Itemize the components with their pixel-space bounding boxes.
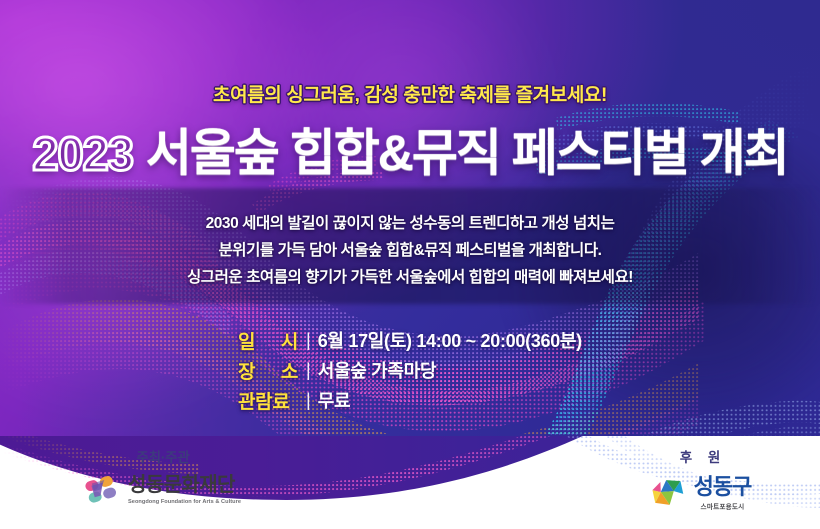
event-details: 일 시 | 6월 17일(토) 14:00 ~ 20:00(360분) 장 소 …	[238, 325, 582, 415]
detail-label-place: 장 소	[238, 357, 306, 384]
detail-value-fee: 무료	[318, 387, 351, 413]
detail-value-place: 서울숲 가족마당	[318, 357, 437, 383]
description-line-1: 2030 세대의 발길이 끊이지 않는 성수동의 트렌디하고 개성 넘치는	[0, 210, 820, 237]
support-logo-text: 성동구 스마트포용도시	[694, 475, 752, 511]
title-main: 서울숲 힙합&뮤직 페스티벌 개최	[146, 113, 788, 185]
poster-subtitle: 초여름의 싱그러움, 감성 충만한 축제를 즐겨보세요!	[0, 80, 820, 107]
seongdong-foundation-logo-icon	[85, 475, 119, 505]
title-year: 2023	[32, 126, 133, 181]
detail-label-fee: 관람료	[238, 387, 306, 414]
detail-label-date-a: 일	[238, 327, 255, 354]
detail-separator-date: |	[306, 330, 311, 351]
poster-title: 2023 서울숲 힙합&뮤직 페스티벌 개최	[0, 113, 820, 185]
description-line-2: 분위기를 가득 담아 서울숲 힙합&뮤직 페스티벌을 개최합니다.	[0, 237, 820, 264]
detail-label-date: 일 시	[238, 327, 306, 354]
detail-separator-fee: |	[306, 390, 311, 411]
footer-support-block: 후 원 성동구 스마트포용도시	[600, 446, 800, 511]
footer-host-heading: 주최·주관	[38, 446, 288, 466]
footer-host-block: 주최·주관 성동문화재단 Seongdong Foundation for Ar…	[38, 446, 288, 505]
poster-description: 2030 세대의 발길이 끊이지 않는 성수동의 트렌디하고 개성 넘치는 분위…	[0, 210, 820, 291]
detail-label-date-b: 시	[281, 327, 298, 354]
host-logo-row: 성동문화재단 Seongdong Foundation for Arts & C…	[38, 475, 288, 505]
poster-footer: 주최·주관 성동문화재단 Seongdong Foundation for Ar…	[0, 436, 820, 529]
host-logo-subtitle: Seongdong Foundation for Arts & Culture	[128, 499, 241, 505]
support-logo-subtitle: 스마트포용도시	[694, 501, 752, 511]
host-logo-name: 성동문화재단	[128, 475, 241, 496]
host-logo-text: 성동문화재단 Seongdong Foundation for Arts & C…	[128, 475, 241, 505]
festival-poster: 초여름의 싱그러움, 감성 충만한 축제를 즐겨보세요! 2023 서울숲 힙합…	[0, 0, 820, 529]
detail-value-date: 6월 17일(토) 14:00 ~ 20:00(360분)	[318, 327, 582, 353]
detail-row-date: 일 시 | 6월 17일(토) 14:00 ~ 20:00(360분)	[238, 325, 582, 355]
seongdong-gu-logo-icon	[649, 477, 687, 509]
detail-label-place-b: 소	[281, 357, 298, 384]
support-logo-row: 성동구 스마트포용도시	[600, 475, 800, 511]
description-line-3: 싱그러운 초여름의 향기가 가득한 서울숲에서 힙합의 매력에 빠져보세요!	[0, 264, 820, 291]
detail-label-place-a: 장	[238, 357, 255, 384]
detail-separator-place: |	[306, 360, 311, 381]
footer-support-heading: 후 원	[600, 446, 800, 466]
detail-row-place: 장 소 | 서울숲 가족마당	[238, 355, 582, 385]
support-logo-name: 성동구	[694, 475, 752, 498]
detail-row-fee: 관람료 | 무료	[238, 385, 582, 415]
